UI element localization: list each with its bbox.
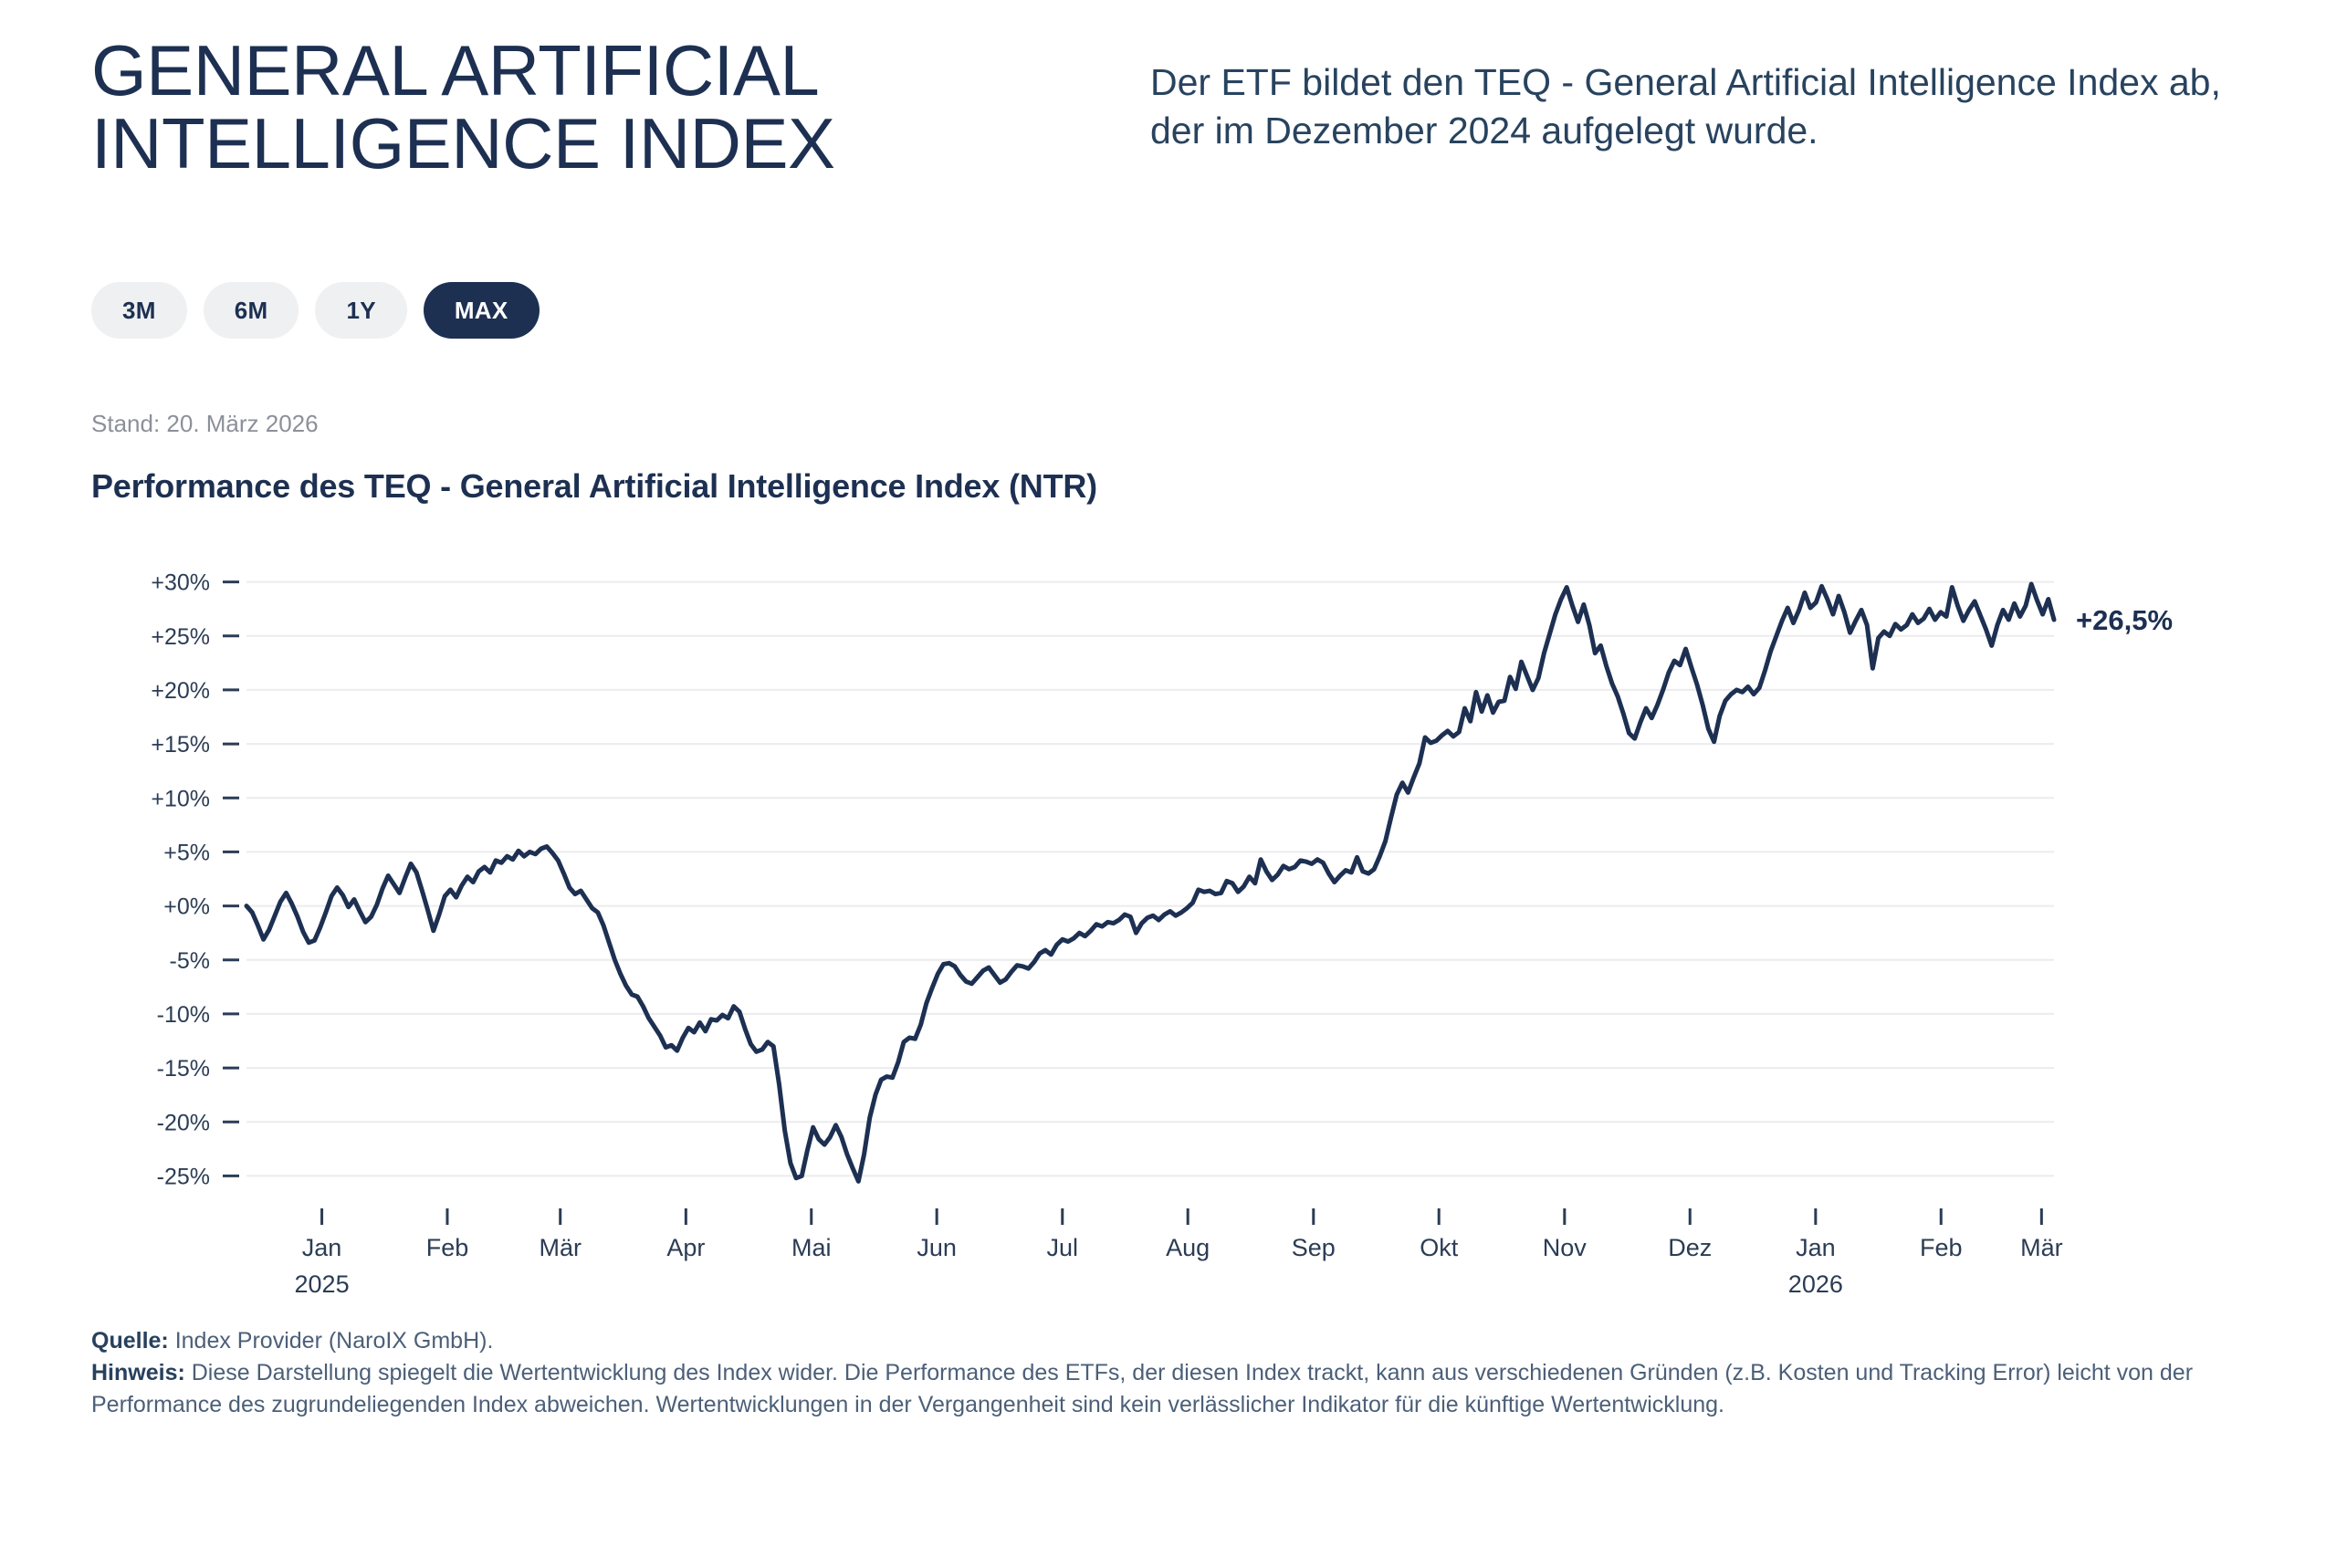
- note-label: Hinweis:: [91, 1360, 185, 1385]
- x-axis-tick-label: Mai: [791, 1234, 832, 1261]
- chart-gridlines: [223, 582, 2054, 1176]
- x-axis-tick-label: Mär: [2020, 1234, 2063, 1261]
- time-range-selector: 3M 6M 1Y MAX: [0, 180, 2337, 339]
- chart-y-axis-labels: +30%+25%+20%+15%+10%+5%+0%-5%-10%-15%-20…: [151, 570, 210, 1190]
- x-axis-tick-label: Jun: [917, 1234, 957, 1261]
- title-block: GENERAL ARTIFICIAL INTELLIGENCE INDEX: [91, 35, 1086, 180]
- note-text: Diese Darstellung spiegelt die Wertentwi…: [91, 1360, 2193, 1417]
- x-axis-tick-label: Sep: [1292, 1234, 1336, 1261]
- page-title: GENERAL ARTIFICIAL INTELLIGENCE INDEX: [91, 35, 1086, 180]
- y-axis-tick-label: +15%: [151, 732, 210, 758]
- y-axis-tick-label: +10%: [151, 786, 210, 811]
- x-axis-tick-label: Apr: [666, 1234, 705, 1261]
- x-axis-tick-label: Jan: [1796, 1234, 1836, 1261]
- chart-x-axis-labels: Jan2025FebMärAprMaiJunJulAugSepOktNovDez…: [295, 1208, 2063, 1298]
- chart-heading: Performance des TEQ - General Artificial…: [0, 438, 2337, 506]
- y-axis-tick-label: +25%: [151, 624, 210, 650]
- x-axis-year-label: 2026: [1788, 1270, 1843, 1298]
- x-axis-tick-label: Nov: [1543, 1234, 1588, 1261]
- page-description: Der ETF bildet den TEQ - General Artific…: [1150, 58, 2227, 156]
- as-of-date: Stand: 20. März 2026: [0, 339, 2337, 438]
- source-line: Quelle: Index Provider (NaroIX GmbH).: [91, 1325, 2246, 1357]
- chart-footnotes: Quelle: Index Provider (NaroIX GmbH). Hi…: [0, 1305, 2337, 1421]
- y-axis-tick-label: -20%: [157, 1110, 210, 1135]
- y-axis-tick-label: -25%: [157, 1165, 210, 1190]
- index-performance-line: [246, 584, 2054, 1181]
- y-axis-tick-label: -15%: [157, 1056, 210, 1082]
- performance-chart: +30%+25%+20%+15%+10%+5%+0%-5%-10%-15%-20…: [0, 538, 2337, 1305]
- y-axis-tick-label: -10%: [157, 1002, 210, 1028]
- range-button-3m[interactable]: 3M: [91, 282, 187, 339]
- range-button-max[interactable]: MAX: [424, 282, 540, 339]
- source-label: Quelle:: [91, 1328, 169, 1354]
- x-axis-tick-label: Jan: [302, 1234, 342, 1261]
- y-axis-tick-label: +5%: [163, 841, 210, 866]
- x-axis-tick-label: Dez: [1668, 1234, 1712, 1261]
- x-axis-tick-label: Aug: [1166, 1234, 1210, 1261]
- description-block: Der ETF bildet den TEQ - General Artific…: [1150, 35, 2227, 156]
- end-value-label: +26,5%: [2076, 604, 2173, 636]
- x-axis-tick-label: Okt: [1420, 1234, 1459, 1261]
- range-button-6m[interactable]: 6M: [204, 282, 299, 339]
- y-axis-tick-label: +30%: [151, 570, 210, 596]
- x-axis-tick-label: Feb: [426, 1234, 469, 1261]
- note-line: Hinweis: Diese Darstellung spiegelt die …: [91, 1357, 2246, 1421]
- range-button-1y[interactable]: 1Y: [315, 282, 406, 339]
- etf-index-performance-page: GENERAL ARTIFICIAL INTELLIGENCE INDEX De…: [0, 0, 2337, 1568]
- x-axis-year-label: 2025: [295, 1270, 350, 1298]
- page-header: GENERAL ARTIFICIAL INTELLIGENCE INDEX De…: [0, 0, 2337, 180]
- y-axis-tick-label: +0%: [163, 894, 210, 920]
- x-axis-tick-label: Jul: [1047, 1234, 1079, 1261]
- x-axis-tick-label: Feb: [1920, 1234, 1963, 1261]
- source-text: Index Provider (NaroIX GmbH).: [169, 1328, 494, 1354]
- performance-chart-svg[interactable]: +30%+25%+20%+15%+10%+5%+0%-5%-10%-15%-20…: [91, 538, 2246, 1305]
- y-axis-tick-label: +20%: [151, 678, 210, 704]
- y-axis-tick-label: -5%: [170, 948, 210, 974]
- x-axis-tick-label: Mär: [539, 1234, 582, 1261]
